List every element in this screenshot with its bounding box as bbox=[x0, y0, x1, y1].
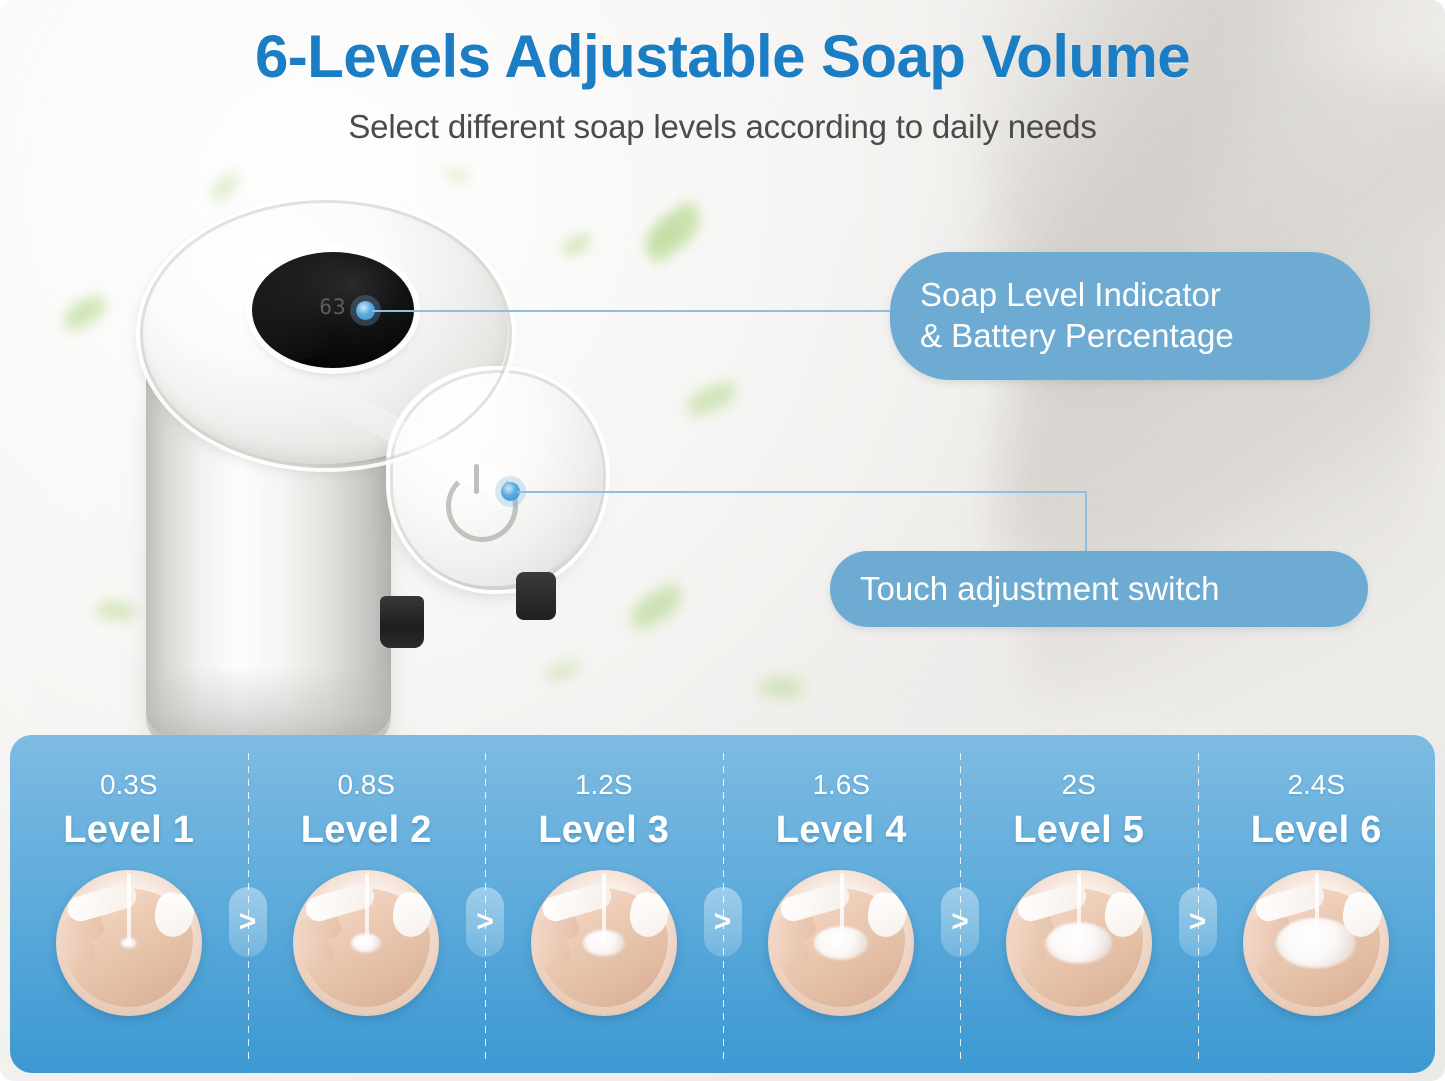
dispenser-sensor bbox=[516, 572, 556, 620]
leaf-shape bbox=[624, 581, 689, 633]
level-name: Level 2 bbox=[301, 809, 432, 852]
callout-line-1: Touch adjustment switch bbox=[860, 569, 1338, 610]
level-time: 2S bbox=[1062, 769, 1096, 801]
foam-blob bbox=[121, 938, 137, 948]
hand-foam-photo bbox=[1243, 870, 1389, 1016]
leaf-shape bbox=[442, 163, 472, 187]
level-name: Level 6 bbox=[1251, 809, 1382, 852]
chevron-right-icon: > bbox=[466, 887, 504, 957]
page-subtitle: Select different soap levels according t… bbox=[0, 108, 1445, 146]
hand-foam-photo bbox=[531, 870, 677, 1016]
lead-line-led bbox=[372, 310, 902, 312]
level-name: Level 3 bbox=[538, 809, 669, 852]
callout-soap-level-indicator: Soap Level Indicator & Battery Percentag… bbox=[890, 252, 1370, 380]
level-name: Level 5 bbox=[1013, 809, 1144, 852]
level-item[interactable]: >1.2SLevel 3 bbox=[485, 735, 723, 1073]
level-item[interactable]: >2SLevel 5 bbox=[960, 735, 1198, 1073]
infographic-page: 6-Levels Adjustable Soap Volume Select d… bbox=[0, 0, 1445, 1081]
hand-foam-photo bbox=[1006, 870, 1152, 1016]
leaf-shape bbox=[636, 199, 711, 266]
soap-levels-panel: 0.3SLevel 1>0.8SLevel 2>1.2SLevel 3>1.6S… bbox=[10, 735, 1435, 1073]
level-item[interactable]: 0.3SLevel 1 bbox=[10, 735, 248, 1073]
soap-dispenser-photo: 63 bbox=[128, 186, 568, 756]
level-time: 1.2S bbox=[575, 769, 633, 801]
lead-line-switch-h bbox=[517, 491, 1087, 493]
hand-foam-photo bbox=[56, 870, 202, 1016]
hand-foam-photo bbox=[293, 870, 439, 1016]
chevron-right-icon: > bbox=[229, 887, 267, 957]
level-item[interactable]: >0.8SLevel 2 bbox=[248, 735, 486, 1073]
level-item[interactable]: >1.6SLevel 4 bbox=[723, 735, 961, 1073]
soap-stream bbox=[365, 873, 369, 943]
level-time: 1.6S bbox=[812, 769, 870, 801]
soap-stream bbox=[127, 873, 131, 943]
foam-blob bbox=[1276, 918, 1356, 968]
chevron-right-icon: > bbox=[1179, 887, 1217, 957]
dispenser-top-plate: 63 bbox=[128, 186, 528, 636]
leaf-shape bbox=[758, 671, 806, 705]
chevron-right-icon: > bbox=[941, 887, 979, 957]
level-time: 2.4S bbox=[1287, 769, 1345, 801]
hand-foam-photo bbox=[768, 870, 914, 1016]
callout-line-2: & Battery Percentage bbox=[920, 316, 1340, 357]
foam-blob bbox=[814, 927, 868, 960]
level-item[interactable]: >2.4SLevel 6 bbox=[1198, 735, 1436, 1073]
leaf-shape bbox=[683, 379, 740, 418]
callout-line-1: Soap Level Indicator bbox=[920, 275, 1340, 316]
dispenser-nozzle bbox=[380, 596, 424, 648]
level-time: 0.8S bbox=[337, 769, 395, 801]
power-icon-bar bbox=[474, 464, 479, 494]
callout-touch-adjustment-switch: Touch adjustment switch bbox=[830, 551, 1368, 627]
leaf-shape bbox=[59, 292, 111, 333]
level-name: Level 1 bbox=[63, 809, 194, 852]
foam-blob bbox=[351, 934, 381, 953]
level-time: 0.3S bbox=[100, 769, 158, 801]
foam-blob bbox=[1046, 923, 1112, 964]
power-icon[interactable] bbox=[446, 470, 518, 542]
lead-line-switch-v bbox=[1085, 491, 1087, 556]
chevron-right-icon: > bbox=[704, 887, 742, 957]
dispenser-body-shading bbox=[146, 666, 391, 744]
level-name: Level 4 bbox=[776, 809, 907, 852]
foam-blob bbox=[583, 930, 625, 956]
page-title: 6-Levels Adjustable Soap Volume bbox=[0, 22, 1445, 91]
